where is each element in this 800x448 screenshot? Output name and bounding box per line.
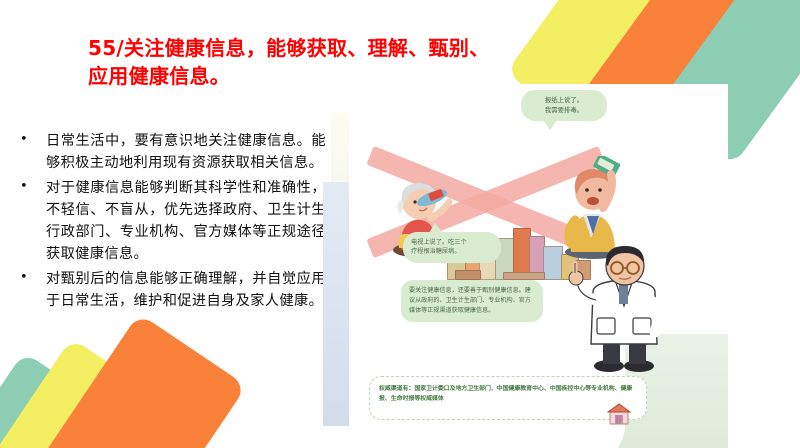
slide-title: 55/关注健康信息，能够获取、理解、甄别、 应用健康信息。 — [88, 34, 508, 91]
list-item-text: 对甄别后的信息能够正确理解，并自觉应用于日常生活，维护和促进自身及家人健康。 — [46, 271, 326, 309]
side-accent-band — [323, 182, 349, 426]
speech-bubble-doctor: 要关注健康信息，还要善于甄别健康信息。建议从政府的、卫生计生部门、专业机构、官方… — [401, 280, 543, 322]
side-band-top — [331, 112, 349, 182]
list-item-text: 日常生活中，要有意识地关注健康信息。能够积极主动地利用现有资源获取相关信息。 — [46, 133, 326, 171]
bullet-marker: • — [20, 177, 28, 197]
illustration-panel: 报纸上说了。 我需要排毒。 电视上说了。吃三个 疗程根治糖尿病。 要关注健康信息… — [349, 84, 728, 448]
bullet-marker: • — [20, 268, 28, 288]
list-item: • 对甄别后的信息能够正确理解，并自觉应用于日常生活，维护和促进自身及家人健康。 — [14, 268, 326, 312]
list-item: • 日常生活中，要有意识地关注健康信息。能够积极主动地利用现有资源获取相关信息。 — [14, 130, 326, 174]
bullet-marker: • — [20, 130, 28, 150]
bullet-list: • 日常生活中，要有意识地关注健康信息。能够积极主动地利用现有资源获取相关信息。… — [14, 130, 326, 315]
list-item-text: 对于健康信息能够判断其科学性和准确性，不轻信、不盲从，优先选择政府、卫生计生行政… — [46, 180, 326, 262]
house-icon — [605, 402, 633, 426]
speech-bubble-woman: 电视上说了。吃三个 疗程根治糖尿病。 — [403, 232, 501, 263]
list-item: • 对于健康信息能够判断其科学性和准确性，不轻信、不盲从，优先选择政府、卫生计生… — [14, 177, 326, 265]
doctor-pointing — [563, 244, 681, 374]
speech-bubble-man: 报纸上说了。 我需要排毒。 — [521, 90, 607, 121]
slide-canvas: 55/关注健康信息，能够获取、理解、甄别、 应用健康信息。 • 日常生活中，要有… — [0, 0, 800, 448]
